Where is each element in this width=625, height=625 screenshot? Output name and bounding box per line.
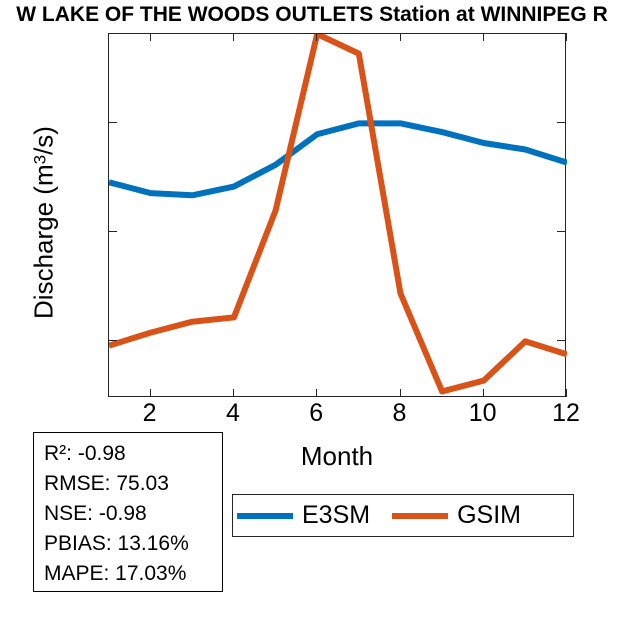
chart-title: W LAKE OF THE WOODS OUTLETS Station at W…	[0, 2, 625, 28]
plot-lines-svg	[109, 34, 567, 398]
line-series-gsim	[109, 34, 567, 391]
y-tick-mark	[108, 122, 117, 123]
y-tick-mark	[108, 340, 117, 341]
legend-entry-e3sm[interactable]: E3SM	[237, 495, 370, 536]
x-tick-mark	[566, 33, 567, 41]
y-tick-mark	[108, 231, 117, 232]
x-tick-mark	[316, 389, 317, 397]
x-tick-label: 12	[526, 401, 606, 426]
legend-label-gsim: GSIM	[457, 503, 521, 528]
x-tick-mark	[400, 389, 401, 397]
x-tick-mark	[233, 33, 234, 41]
figure-canvas: W LAKE OF THE WOODS OUTLETS Station at W…	[0, 0, 625, 625]
stat-mape: MAPE: 17.03%	[44, 559, 222, 589]
x-tick-mark	[316, 33, 317, 41]
x-tick-mark	[566, 389, 567, 397]
x-tick-label: 6	[276, 401, 356, 426]
x-tick-mark	[233, 389, 234, 397]
y-axis-label: Discharge (m3/s)	[26, 23, 59, 423]
chart-legend: E3SM GSIM	[232, 494, 574, 537]
y-tick-mark	[557, 340, 566, 341]
y-tick-mark	[557, 231, 566, 232]
stat-r2: R²: -0.98	[44, 439, 222, 469]
stat-pbias: PBIAS: 13.16%	[44, 529, 222, 559]
x-tick-mark	[150, 33, 151, 41]
line-series-e3sm	[109, 123, 567, 195]
y-axis-label-exponent: 3	[31, 155, 50, 164]
legend-entry-gsim[interactable]: GSIM	[392, 495, 521, 536]
x-tick-label: 10	[443, 401, 523, 426]
legend-swatch-gsim	[392, 513, 448, 519]
x-tick-mark	[400, 33, 401, 41]
legend-label-e3sm: E3SM	[302, 503, 370, 528]
x-tick-mark	[483, 33, 484, 41]
x-tick-mark	[483, 389, 484, 397]
y-tick-mark	[557, 122, 566, 123]
x-tick-mark	[150, 389, 151, 397]
y-axis-label-suffix: /s)	[29, 126, 59, 155]
statistics-box: R²: -0.98 RMSE: 75.03 NSE: -0.98 PBIAS: …	[33, 432, 223, 592]
x-tick-label: 4	[193, 401, 273, 426]
stat-rmse: RMSE: 75.03	[44, 469, 222, 499]
legend-swatch-e3sm	[237, 513, 293, 519]
plot-area	[108, 33, 566, 397]
x-tick-label: 2	[110, 401, 190, 426]
x-tick-label: 8	[360, 401, 440, 426]
stat-nse: NSE: -0.98	[44, 499, 222, 529]
y-axis-label-prefix: Discharge (m	[29, 164, 59, 319]
